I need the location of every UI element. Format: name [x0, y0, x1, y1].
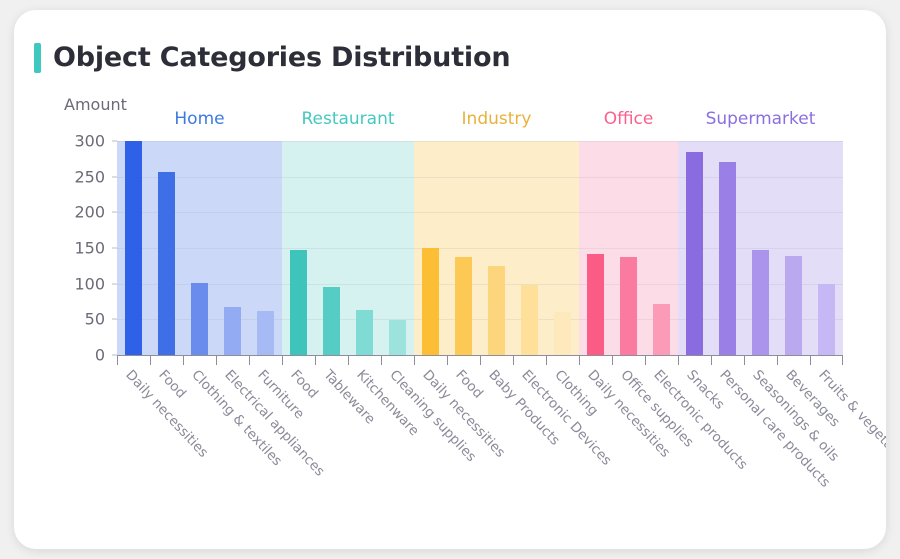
y-tick-label: 250	[74, 167, 105, 186]
x-tick-mark	[711, 356, 712, 365]
bar[interactable]	[785, 256, 802, 355]
x-tick-mark	[579, 356, 580, 365]
y-tick-label: 50	[85, 310, 105, 329]
y-tick-label: 0	[95, 346, 105, 365]
group-label-home: Home	[174, 109, 224, 129]
x-tick-mark	[612, 356, 613, 365]
bar[interactable]	[125, 141, 142, 355]
bar[interactable]	[356, 310, 373, 355]
group-label-industry: Industry	[462, 109, 532, 129]
x-tick-mark	[777, 356, 778, 365]
y-tick-label: 300	[74, 132, 105, 151]
y-tick-label: 100	[74, 274, 105, 293]
group-label-supermarket: Supermarket	[706, 109, 816, 129]
x-tick-mark	[810, 356, 811, 365]
x-tick-mark	[381, 356, 382, 365]
bar[interactable]	[521, 285, 538, 355]
x-tick-mark	[645, 356, 646, 365]
x-tick-mark	[150, 356, 151, 365]
x-tick-mark	[744, 356, 745, 365]
x-tick-mark	[513, 356, 514, 365]
x-tick-mark	[249, 356, 250, 365]
bar-chart: Amount 050100150200250300 HomeRestaurant…	[28, 95, 874, 535]
bar[interactable]	[719, 162, 736, 355]
y-tick-label: 150	[74, 239, 105, 258]
x-tick-mark	[348, 356, 349, 365]
x-tick-mark	[414, 356, 415, 365]
bar[interactable]	[422, 248, 439, 355]
y-tick-label: 200	[74, 203, 105, 222]
bar[interactable]	[290, 250, 307, 355]
bar[interactable]	[455, 257, 472, 355]
x-tick-mark	[480, 356, 481, 365]
bar[interactable]	[389, 320, 406, 355]
bar[interactable]	[191, 283, 208, 355]
x-axis-ticks	[117, 356, 843, 365]
x-tick-mark	[183, 356, 184, 365]
group-labels: HomeRestaurantIndustryOfficeSupermarket	[117, 109, 843, 135]
x-tick-mark	[842, 356, 843, 365]
x-tick-mark	[117, 356, 118, 365]
group-label-restaurant: Restaurant	[301, 109, 394, 129]
x-tick-mark	[282, 356, 283, 365]
bar[interactable]	[620, 257, 637, 355]
x-axis-labels: Daily necessitiesFoodClothing & textiles…	[117, 367, 843, 535]
bar[interactable]	[818, 284, 835, 355]
bar[interactable]	[686, 152, 703, 355]
bar[interactable]	[323, 287, 340, 355]
title-accent-bar	[34, 43, 41, 73]
bar[interactable]	[224, 307, 241, 355]
bar[interactable]	[752, 250, 769, 355]
x-tick-mark	[546, 356, 547, 365]
bar[interactable]	[653, 304, 670, 355]
x-tick-mark	[216, 356, 217, 365]
bars-layer	[117, 141, 843, 355]
bar[interactable]	[587, 254, 604, 355]
group-label-office: Office	[604, 109, 654, 129]
x-tick-mark	[447, 356, 448, 365]
x-tick-mark	[678, 356, 679, 365]
bar[interactable]	[554, 312, 571, 356]
page-title: Object Categories Distribution	[53, 42, 510, 73]
chart-card: Object Categories Distribution Amount 05…	[14, 10, 886, 549]
chart-header: Object Categories Distribution	[34, 42, 510, 73]
x-tick-mark	[315, 356, 316, 365]
bar[interactable]	[158, 172, 175, 355]
y-axis: 050100150200250300	[28, 141, 117, 355]
bar[interactable]	[257, 311, 274, 355]
bar[interactable]	[488, 266, 505, 355]
